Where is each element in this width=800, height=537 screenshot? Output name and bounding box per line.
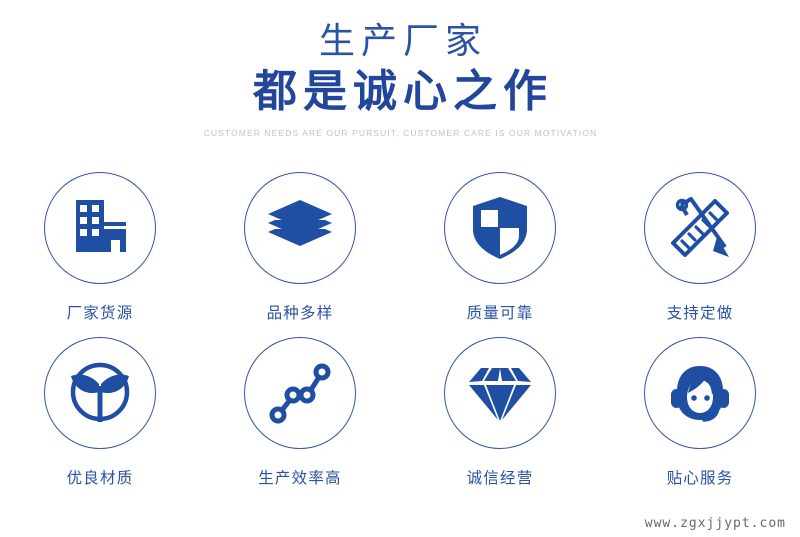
feature-icon-circle <box>44 337 156 449</box>
feature-item-quality[interactable]: 质量可靠 <box>400 172 600 337</box>
feature-label: 厂家货源 <box>67 301 134 323</box>
diamond-gem-icon <box>467 364 533 422</box>
feature-icon-circle <box>244 337 356 449</box>
feature-item-variety[interactable]: 品种多样 <box>200 172 400 337</box>
feature-item-factory-source[interactable]: 厂家货源 <box>0 172 200 337</box>
feature-icon-circle <box>244 172 356 284</box>
feature-label: 贴心服务 <box>667 466 734 488</box>
layers-stack-icon <box>267 199 333 257</box>
promo-banner: 生产厂家 都是诚心之作 CUSTOMER NEEDS ARE OUR PURSU… <box>0 0 800 537</box>
feature-label: 品种多样 <box>267 301 334 323</box>
feature-label: 生产效率高 <box>258 466 342 488</box>
site-watermark: www.zgxjjypt.com <box>645 516 786 531</box>
headline-secondary: 都是诚心之作 <box>0 61 800 118</box>
headline-primary: 生产厂家 <box>0 0 800 61</box>
feature-item-custom-made[interactable]: 支持定做 <box>600 172 800 337</box>
shield-check-icon <box>472 196 528 260</box>
feature-label: 质量可靠 <box>467 301 534 323</box>
pencil-ruler-icon <box>667 195 733 261</box>
feature-item-integrity[interactable]: 诚信经营 <box>400 337 600 502</box>
feature-label: 诚信经营 <box>467 466 534 488</box>
feature-item-material-quality[interactable]: 优良材质 <box>0 337 200 502</box>
feature-item-efficiency[interactable]: 生产效率高 <box>200 337 400 502</box>
headline-subtitle-english: CUSTOMER NEEDS ARE OUR PURSUIT, CUSTOMER… <box>0 118 800 140</box>
feature-label: 优良材质 <box>67 466 134 488</box>
sprout-leaf-icon <box>68 362 132 424</box>
headset-support-icon <box>666 362 734 424</box>
feature-icon-circle <box>644 172 756 284</box>
feature-item-service[interactable]: 贴心服务 <box>600 337 800 502</box>
feature-icon-circle <box>44 172 156 284</box>
banner-header: 生产厂家 都是诚心之作 CUSTOMER NEEDS ARE OUR PURSU… <box>0 0 800 140</box>
feature-label: 支持定做 <box>667 301 734 323</box>
feature-icon-circle <box>644 337 756 449</box>
factory-building-icon <box>69 198 131 258</box>
feature-icon-circle <box>444 337 556 449</box>
feature-grid: 厂家货源 品种多样 <box>0 172 800 502</box>
line-chart-nodes-icon <box>269 362 331 424</box>
feature-icon-circle <box>444 172 556 284</box>
